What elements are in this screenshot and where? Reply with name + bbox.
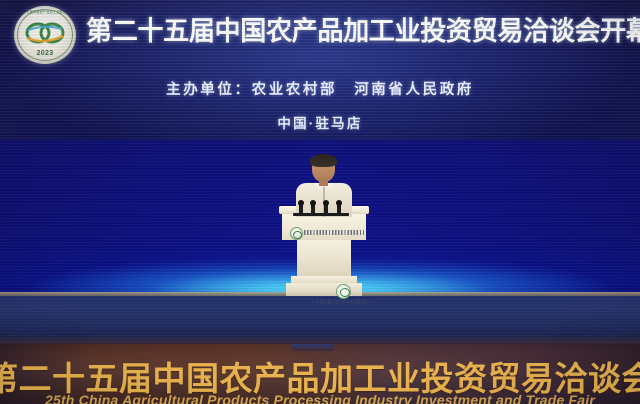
emblem-year: 2023	[14, 50, 76, 57]
microphone-icon-3	[324, 202, 328, 215]
podium-front-panel	[282, 214, 366, 240]
speaking-podium	[279, 206, 369, 298]
stage-glow-right	[340, 242, 640, 296]
podium-column	[297, 240, 351, 276]
podium-panel-emblem-icon	[290, 227, 303, 240]
podium-front-emblem-icon	[336, 284, 351, 299]
podium-panel-text	[304, 230, 364, 235]
page-title: 第二十五届中国农产品加工业投资贸易洽谈会开幕式	[86, 9, 626, 48]
location-line: 中国·驻马店	[0, 112, 640, 132]
bottom-banner: 第二十五届中国农产品加工业投资贸易洽谈会 25th China Agricult…	[0, 344, 640, 404]
led-header-screen: 第二十五届中国农产品加工业投资贸易洽谈会 2023 第二十五届中国农产品加工业投…	[0, 0, 640, 140]
podium-front-text	[317, 300, 369, 304]
screenshot-root: 第二十五届中国农产品加工业投资贸易洽谈会 2023 第二十五届中国农产品加工业投…	[0, 0, 640, 404]
banner-title-en: 25th China Agricultural Products Process…	[45, 392, 595, 404]
banner-top-notch	[292, 344, 334, 351]
conference-emblem-icon: 第二十五届中国农产品加工业投资贸易洽谈会 2023	[14, 6, 76, 64]
emblem-arc-text: 第二十五届中国农产品加工业投资贸易洽谈会	[16, 10, 73, 14]
microphone-icon-2	[311, 202, 315, 215]
stage-glow-left	[0, 242, 300, 296]
organizers-line: 主办单位：农业农村部 河南省人民政府	[0, 78, 640, 99]
speaker-hair	[310, 154, 337, 167]
emblem-knot-icon	[25, 21, 65, 45]
microphone-icon-4	[337, 202, 341, 215]
podium-base-upper	[291, 276, 357, 283]
microphone-icon-1	[299, 202, 303, 215]
